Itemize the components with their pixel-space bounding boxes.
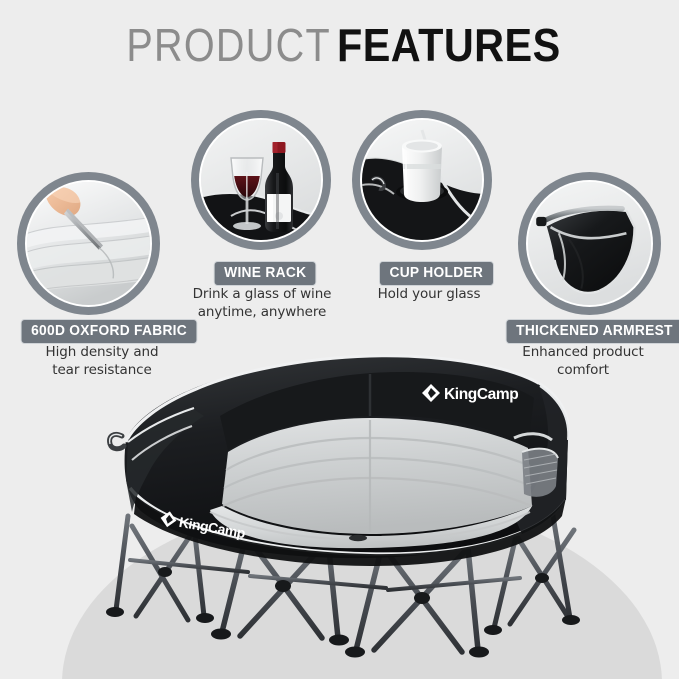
circle-inner-ring [199,118,323,242]
circle-inner-ring [360,118,484,242]
wine-rack-photo [201,120,321,240]
infographic-page: PRODUCTFEATURES [0,0,679,679]
page-title: PRODUCTFEATURES [0,22,679,68]
badge-cup-holder: CUP HOLDER [379,261,494,286]
feature-circle-cup-holder [352,110,492,250]
seat-center-tag [349,535,367,541]
circle-inner-ring [526,180,653,307]
title-light-word: PRODUCT [127,22,332,68]
caption-wine-rack: Drink a glass of wine anytime, anywhere [185,286,339,322]
svg-text:KingCamp: KingCamp [444,386,518,403]
feature-circle-armrest [518,172,661,315]
fabric-photo [27,182,150,305]
armrest-photo [528,182,651,305]
caption-cup-holder: Hold your glass [362,286,496,304]
fabric-illustration [27,182,150,305]
circle-inner-ring [25,180,152,307]
feature-circle-fabric [17,172,160,315]
badge-wine-rack: WINE RACK [214,261,317,286]
backrest-cushion [222,418,532,534]
chair-illustration: KingCamp KingCamp [70,320,610,660]
cup-holder-illustration [362,120,482,240]
title-bold-word: FEATURES [337,22,561,68]
armrest-illustration [528,182,651,305]
wine-rack-illustration [201,120,321,240]
product-image-chair: KingCamp KingCamp [70,320,610,660]
feature-circle-wine-rack [191,110,331,250]
cup-holder-photo [362,120,482,240]
white-cup [402,140,442,203]
